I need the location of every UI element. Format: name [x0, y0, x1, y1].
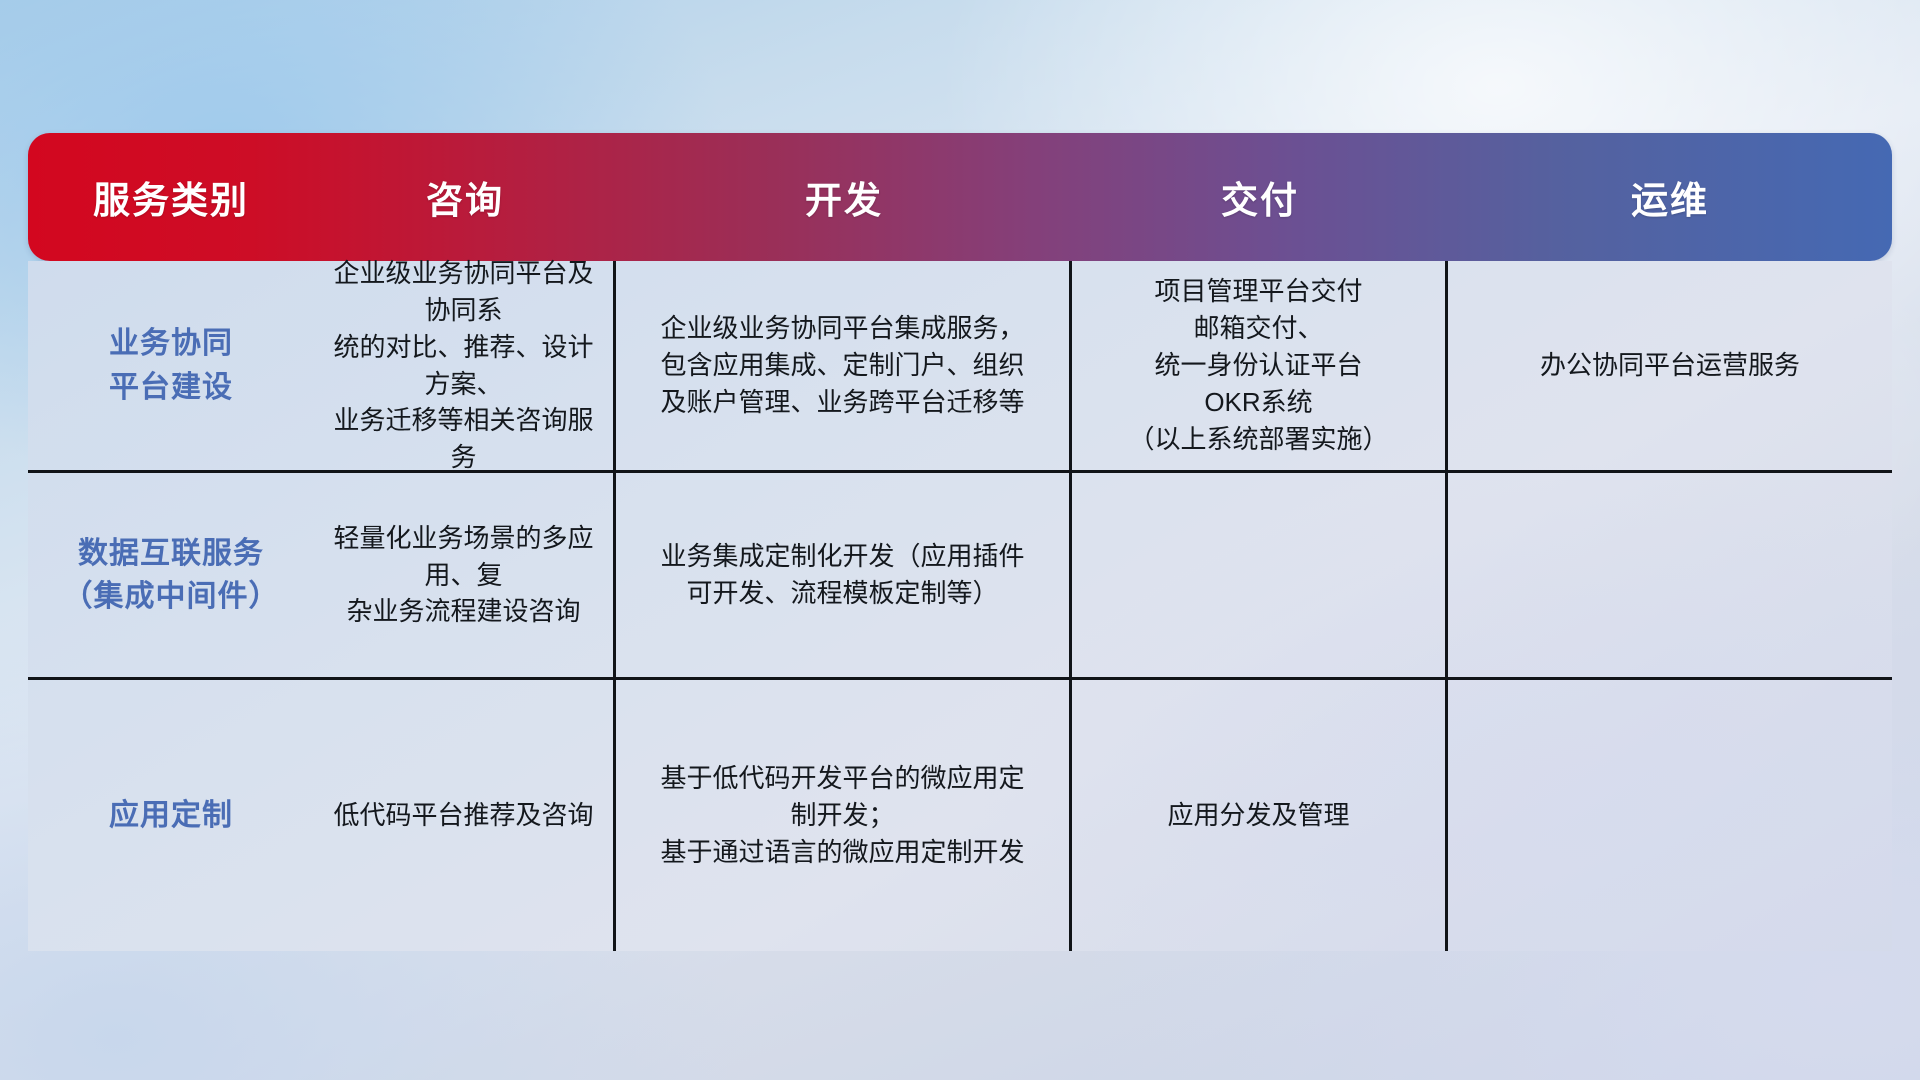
table-header-row: 服务类别 咨询 开发 交付 运维: [28, 133, 1892, 261]
row-delivery-cell: 项目管理平台交付 邮箱交付、 统一身份认证平台 OKR系统 （以上系统部署实施）: [1072, 261, 1448, 470]
row-operations-cell: 办公协同平台运营服务: [1448, 261, 1892, 470]
column-header-development-label: 开发: [805, 170, 883, 224]
table-body: 业务协同 平台建设 企业级业务协同平台及协同系 统的对比、推荐、设计方案、 业务…: [28, 261, 1892, 951]
row-delivery-cell: [1072, 473, 1448, 677]
column-header-consulting: 咨询: [314, 133, 616, 261]
row-delivery-text: 项目管理平台交付 邮箱交付、 统一身份认证平台 OKR系统 （以上系统部署实施）: [1128, 273, 1388, 458]
row-consulting-cell: 企业级业务协同平台及协同系 统的对比、推荐、设计方案、 业务迁移等相关咨询服务: [314, 261, 616, 470]
row-development-text: 基于低代码开发平台的微应用定 制开发； 基于通过语言的微应用定制开发: [660, 760, 1024, 871]
table-row: 应用定制 低代码平台推荐及咨询 基于低代码开发平台的微应用定 制开发； 基于通过…: [28, 680, 1892, 951]
row-category-label: 数据互联服务 （集成中间件）: [63, 532, 280, 619]
row-category-cell: 数据互联服务 （集成中间件）: [28, 473, 314, 677]
row-consulting-text: 低代码平台推荐及咨询: [333, 797, 593, 834]
row-consulting-cell: 轻量化业务场景的多应用、复 杂业务流程建设咨询: [314, 473, 616, 677]
column-header-delivery-label: 交付: [1221, 170, 1299, 224]
table-row: 业务协同 平台建设 企业级业务协同平台及协同系 统的对比、推荐、设计方案、 业务…: [28, 261, 1892, 473]
row-category-cell: 业务协同 平台建设: [28, 261, 314, 470]
row-development-cell: 企业级业务协同平台集成服务， 包含应用集成、定制门户、组织 及账户管理、业务跨平…: [616, 261, 1072, 470]
row-development-cell: 基于低代码开发平台的微应用定 制开发； 基于通过语言的微应用定制开发: [616, 680, 1072, 951]
row-category-cell: 应用定制: [28, 680, 314, 951]
service-matrix-table: 服务类别 咨询 开发 交付 运维 业务协同 平台建设 企业级业务协同平台及协同系…: [28, 133, 1892, 951]
column-header-category-label: 服务类别: [93, 170, 249, 224]
row-development-text: 企业级业务协同平台集成服务， 包含应用集成、定制门户、组织 及账户管理、业务跨平…: [660, 310, 1024, 421]
row-consulting-text: 轻量化业务场景的多应用、复 杂业务流程建设咨询: [330, 520, 597, 631]
row-operations-cell: [1448, 680, 1892, 951]
row-delivery-cell: 应用分发及管理: [1072, 680, 1448, 951]
column-header-category: 服务类别: [28, 133, 314, 261]
row-operations-text: 办公协同平台运营服务: [1540, 347, 1800, 384]
row-consulting-cell: 低代码平台推荐及咨询: [314, 680, 616, 951]
column-header-operations-label: 运维: [1631, 170, 1709, 224]
row-consulting-text: 企业级业务协同平台及协同系 统的对比、推荐、设计方案、 业务迁移等相关咨询服务: [330, 255, 597, 476]
column-header-development: 开发: [616, 133, 1072, 261]
row-development-cell: 业务集成定制化开发（应用插件 可开发、流程模板定制等）: [616, 473, 1072, 677]
column-header-consulting-label: 咨询: [426, 170, 504, 224]
row-delivery-text: 应用分发及管理: [1167, 797, 1349, 834]
table-row: 数据互联服务 （集成中间件） 轻量化业务场景的多应用、复 杂业务流程建设咨询 业…: [28, 473, 1892, 680]
row-development-text: 业务集成定制化开发（应用插件 可开发、流程模板定制等）: [660, 538, 1024, 612]
column-header-operations: 运维: [1448, 133, 1892, 261]
row-category-label: 应用定制: [109, 794, 233, 838]
row-category-label: 业务协同 平台建设: [109, 322, 233, 409]
column-header-delivery: 交付: [1072, 133, 1448, 261]
row-operations-cell: [1448, 473, 1892, 677]
